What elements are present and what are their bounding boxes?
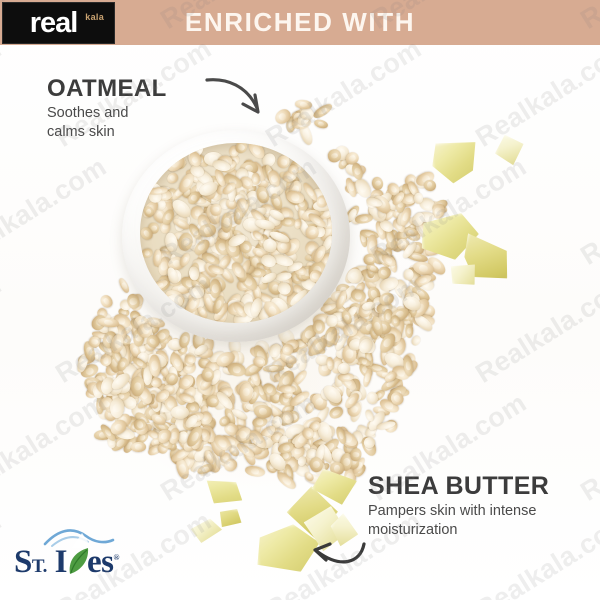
oat-flake <box>414 192 423 203</box>
oatmeal-bowl <box>120 128 352 346</box>
oat-flake <box>227 361 247 378</box>
site-logo[interactable]: real kala <box>2 2 115 44</box>
callout-shea-butter-title: SHEA BUTTER <box>368 473 549 499</box>
oat-flake <box>210 203 222 215</box>
callout-oatmeal-subtitle-line1: Soothes and <box>47 105 128 121</box>
st-ives-t: T <box>32 556 43 577</box>
callout-shea-butter-subtitle: Pampers skin with intense moisturization <box>368 502 549 539</box>
oat-flake <box>191 287 204 299</box>
oat-flake <box>296 350 307 372</box>
product-logo-st-ives[interactable]: ST. Ies® <box>14 524 134 586</box>
st-ives-s: S <box>14 544 32 580</box>
oat-flake <box>411 335 423 348</box>
oat-flake <box>280 385 296 394</box>
oat-flake <box>311 102 334 121</box>
oat-flake <box>164 152 187 174</box>
callout-shea-butter: SHEA BUTTER Pampers skin with intense mo… <box>368 473 549 539</box>
bowl-oats-fill <box>140 143 332 323</box>
leaf-icon <box>66 546 92 576</box>
oat-flake <box>405 324 413 338</box>
oat-flake <box>327 406 344 422</box>
callout-shea-butter-subtitle-line1: Pampers skin with intense <box>368 503 536 519</box>
oat-flake <box>276 471 299 492</box>
curved-arrow-right-down-icon <box>205 72 277 124</box>
oat-flake <box>288 165 298 174</box>
curved-arrow-left-up-icon <box>304 534 368 574</box>
site-logo-primary-text: real <box>30 9 78 38</box>
st-ives-registered-mark: ® <box>113 553 118 562</box>
callout-oatmeal: OATMEAL Soothes and calms skin <box>47 76 167 141</box>
banner-title: ENRICHED WITH <box>185 7 415 38</box>
bowl-interior <box>140 143 332 323</box>
st-ives-dot: . <box>43 556 47 577</box>
callout-oatmeal-title: OATMEAL <box>47 76 167 101</box>
oat-flake <box>370 175 384 191</box>
oat-flake <box>244 464 265 477</box>
oat-flake <box>422 179 436 192</box>
oat-flake <box>337 362 350 374</box>
oat-flake <box>355 213 374 225</box>
infographic-canvas: ENRICHED WITH real kala OATMEAL Soothes … <box>0 0 600 600</box>
oat-flake <box>165 170 180 185</box>
oat-flake <box>131 442 147 453</box>
oat-flake <box>110 398 124 418</box>
site-logo-secondary-text: kala <box>85 12 104 22</box>
callout-oatmeal-subtitle: Soothes and calms skin <box>47 104 167 141</box>
callout-oatmeal-subtitle-line2: calms skin <box>47 124 115 140</box>
oat-flake <box>165 295 184 309</box>
oat-flake <box>303 401 315 415</box>
callout-shea-butter-subtitle-line2: moisturization <box>368 522 457 538</box>
oat-flake <box>141 248 153 259</box>
